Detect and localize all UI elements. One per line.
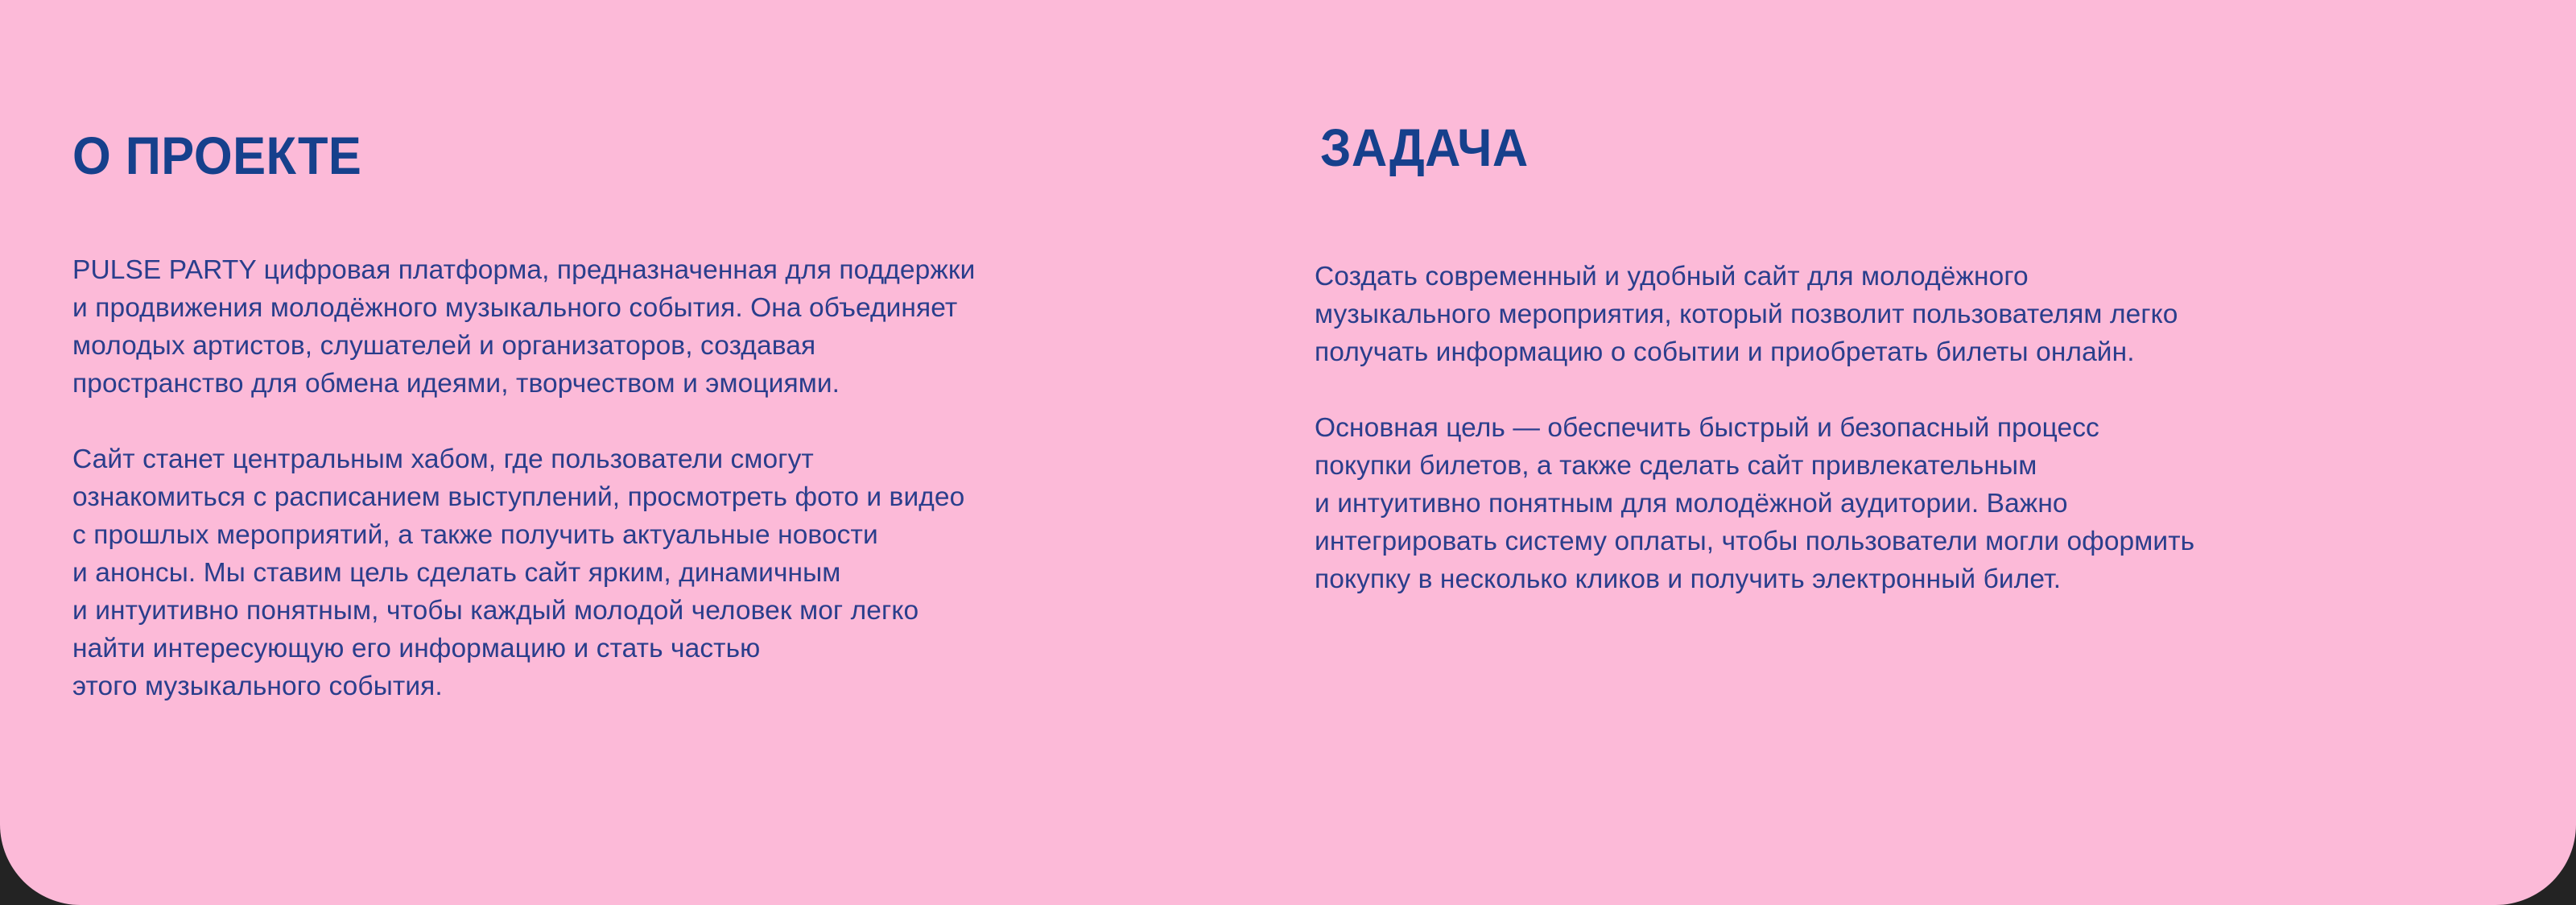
about-project-paragraph-2: Сайт станет центральным хабом, где польз… xyxy=(72,440,1248,705)
section-heading-about-project: О ПРОЕКТЕ xyxy=(72,127,361,184)
two-column-layout: О ПРОЕКТЕ PULSE PARTY цифровая платформа… xyxy=(0,0,2576,905)
about-project-body: PULSE PARTY цифровая платформа, предназн… xyxy=(72,251,1248,705)
presentation-slide: О ПРОЕКТЕ PULSE PARTY цифровая платформа… xyxy=(0,0,2576,905)
about-project-paragraph-1: PULSE PARTY цифровая платформа, предназн… xyxy=(72,251,1248,403)
task-paragraph-1: Создать современный и удобный сайт для м… xyxy=(1315,258,2498,371)
task-paragraph-2: Основная цель — обеспечить быстрый и без… xyxy=(1315,409,2498,598)
section-heading-task: ЗАДАЧА xyxy=(1320,119,1529,176)
task-body: Создать современный и удобный сайт для м… xyxy=(1315,258,2498,598)
